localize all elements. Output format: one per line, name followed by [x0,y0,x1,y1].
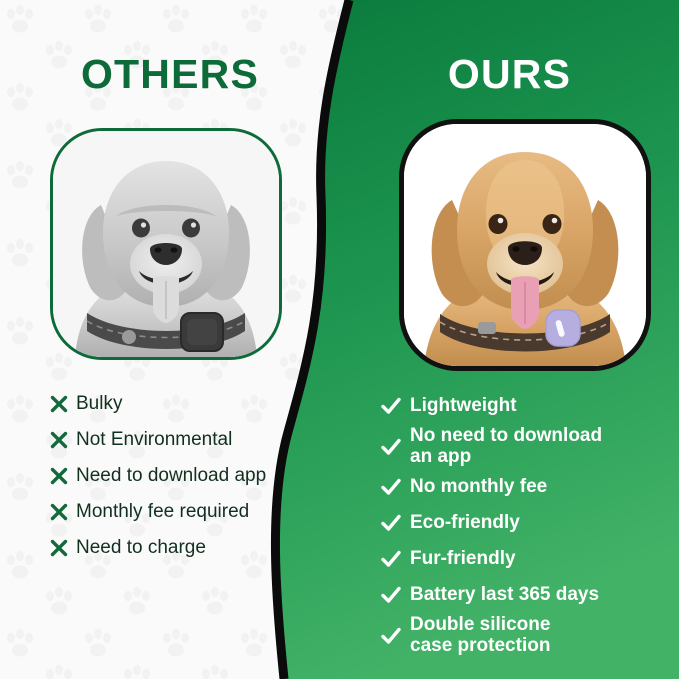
check-mark-icon [378,436,404,458]
list-item: No need to downloadan app [378,424,650,469]
list-item-label: Need to download app [72,466,266,487]
others-feature-list: Bulky Not Environmental Need to download… [46,386,316,566]
list-item-label: Lightweight [404,396,517,417]
others-heading: OTHERS [0,51,340,98]
list-item-label: Monthly fee required [72,502,249,523]
list-item-label: Not Environmental [72,430,232,451]
comparison-infographic: OTHERS OURS [0,0,679,679]
list-item-label: Fur-friendly [404,549,516,570]
list-item: Need to charge [46,530,316,566]
list-item: Monthly fee required [46,494,316,530]
check-mark-icon [378,625,404,647]
check-mark-icon [378,512,404,534]
x-mark-icon [46,466,72,486]
list-item: Bulky [46,386,316,422]
check-mark-icon [378,395,404,417]
ours-feature-list: Lightweight No need to downloadan app No… [378,388,650,658]
ours-dog-photo [399,119,651,371]
ours-heading: OURS [340,51,679,98]
x-mark-icon [46,394,72,414]
list-item: Not Environmental [46,422,316,458]
list-item: Lightweight [378,388,650,424]
list-item: Double siliconecase protection [378,613,650,658]
list-item-label: Need to charge [72,538,206,559]
x-mark-icon [46,430,72,450]
list-item-label: No need to downloadan app [404,426,602,467]
list-item-label: Battery last 365 days [404,585,599,606]
others-dog-photo [50,128,282,360]
list-item: Need to download app [46,458,316,494]
list-item-label: Double siliconecase protection [404,615,550,656]
check-mark-icon [378,584,404,606]
list-item: Fur-friendly [378,541,650,577]
list-item-label: No monthly fee [404,477,547,498]
list-item: No monthly fee [378,469,650,505]
list-item-label: Eco-friendly [404,513,520,534]
list-item: Battery last 365 days [378,577,650,613]
x-mark-icon [46,538,72,558]
list-item-label: Bulky [72,394,122,415]
list-item: Eco-friendly [378,505,650,541]
check-mark-icon [378,548,404,570]
x-mark-icon [46,502,72,522]
check-mark-icon [378,476,404,498]
